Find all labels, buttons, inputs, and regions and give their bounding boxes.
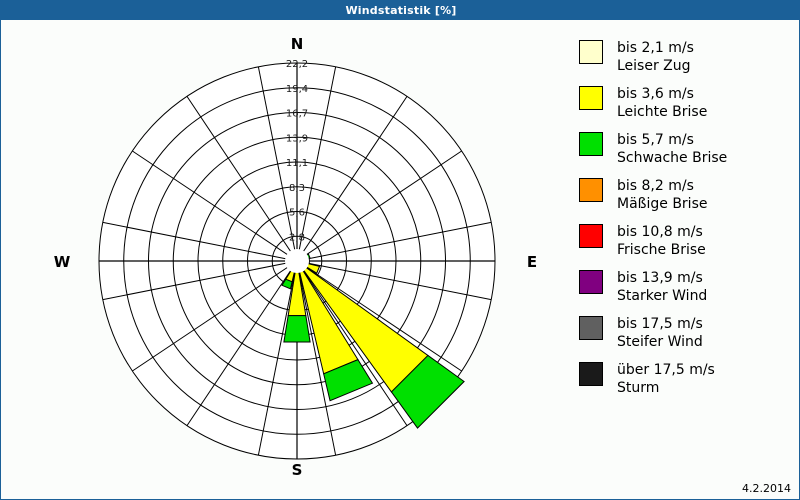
legend-item-text: bis 5,7 m/sSchwache Brise xyxy=(617,131,727,168)
legend-color-swatch xyxy=(579,270,603,294)
legend-item-text: bis 17,5 m/sSteifer Wind xyxy=(617,315,703,352)
legend-item[interactable]: bis 2,1 m/sLeiser Zug xyxy=(579,39,794,76)
legend-item[interactable]: bis 10,8 m/sFrische Brise xyxy=(579,223,794,260)
center-hole xyxy=(285,249,309,273)
radial-tick-label: 16,7 xyxy=(286,109,308,120)
wind-rose-petal-segment xyxy=(284,316,310,342)
legend-item-text: bis 13,9 m/sStarker Wind xyxy=(617,269,707,306)
radial-tick-label: 11,1 xyxy=(286,158,308,169)
legend-speed-label: bis 13,9 m/s xyxy=(617,270,703,286)
center-hole-disc xyxy=(285,249,309,273)
compass-label-west: W xyxy=(54,253,71,271)
legend-item-text: bis 3,6 m/sLeichte Brise xyxy=(617,85,707,122)
legend-speed-label: bis 8,2 m/s xyxy=(617,178,694,194)
legend-name-label: Leiser Zug xyxy=(617,57,694,75)
legend-speed-label: über 17,5 m/s xyxy=(617,362,715,378)
legend-name-label: Leichte Brise xyxy=(617,103,707,121)
compass-label-east: E xyxy=(527,253,537,271)
radial-tick-label: 19,4 xyxy=(286,84,308,95)
legend-item[interactable]: bis 5,7 m/sSchwache Brise xyxy=(579,131,794,168)
legend-color-swatch xyxy=(579,316,603,340)
legend-name-label: Starker Wind xyxy=(617,287,707,305)
legend-color-swatch xyxy=(579,362,603,386)
legend-speed-label: bis 3,6 m/s xyxy=(617,86,694,102)
legend-speed-label: bis 17,5 m/s xyxy=(617,316,703,332)
legend-name-label: Schwache Brise xyxy=(617,149,727,167)
legend-name-label: Frische Brise xyxy=(617,241,706,259)
radial-tick-label: 8,3 xyxy=(289,183,305,194)
compass-label-north: N xyxy=(291,35,304,53)
radial-tick-label: 22,2 xyxy=(286,59,308,70)
legend-color-swatch xyxy=(579,132,603,156)
legend-name-label: Steifer Wind xyxy=(617,333,703,351)
legend-name-label: Mäßige Brise xyxy=(617,195,707,213)
legend-item-text: über 17,5 m/sSturm xyxy=(617,361,715,398)
legend-speed-label: bis 10,8 m/s xyxy=(617,224,703,240)
legend-item[interactable]: bis 3,6 m/sLeichte Brise xyxy=(579,85,794,122)
legend-speed-label: bis 2,1 m/s xyxy=(617,40,694,56)
legend-name-label: Sturm xyxy=(617,379,715,397)
legend-item[interactable]: bis 13,9 m/sStarker Wind xyxy=(579,269,794,306)
wind-rose-chart: 2,85,68,311,113,916,719,422,2 N S E W xyxy=(1,20,567,500)
legend-item-text: bis 10,8 m/sFrische Brise xyxy=(617,223,706,260)
wind-rose-svg: 2,85,68,311,113,916,719,422,2 N S E W xyxy=(1,20,567,500)
windstatistik-window: Windstatistik [%] 2,85,68,311,113,916,71… xyxy=(0,0,800,500)
legend-item-text: bis 2,1 m/sLeiser Zug xyxy=(617,39,694,76)
chart-date: 4.2.2014 xyxy=(742,482,791,495)
window-title: Windstatistik [%] xyxy=(345,4,456,17)
radial-tick-label: 13,9 xyxy=(286,133,308,144)
legend-color-swatch xyxy=(579,178,603,202)
radial-tick-label: 2,8 xyxy=(289,232,305,243)
legend-item[interactable]: über 17,5 m/sSturm xyxy=(579,361,794,398)
legend-item-text: bis 8,2 m/sMäßige Brise xyxy=(617,177,707,214)
radial-tick-label: 5,6 xyxy=(289,208,305,219)
legend: bis 2,1 m/sLeiser Zugbis 3,6 m/sLeichte … xyxy=(579,39,794,407)
legend-color-swatch xyxy=(579,40,603,64)
window-titlebar: Windstatistik [%] xyxy=(1,1,800,20)
legend-item[interactable]: bis 8,2 m/sMäßige Brise xyxy=(579,177,794,214)
legend-color-swatch xyxy=(579,86,603,110)
legend-color-swatch xyxy=(579,224,603,248)
compass-label-south: S xyxy=(292,461,303,479)
legend-speed-label: bis 5,7 m/s xyxy=(617,132,694,148)
legend-item[interactable]: bis 17,5 m/sSteifer Wind xyxy=(579,315,794,352)
